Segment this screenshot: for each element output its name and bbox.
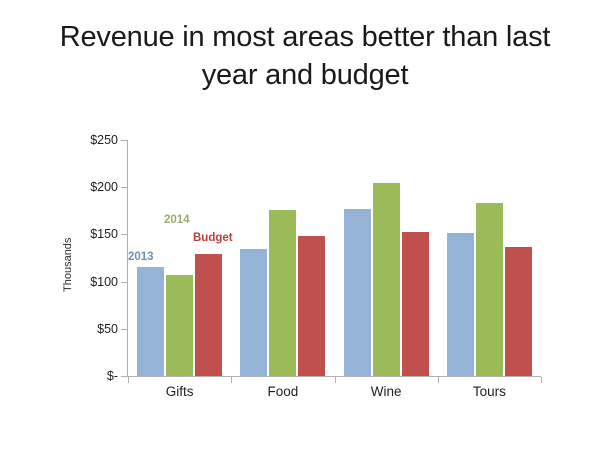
bar-gifts-budget[interactable] (195, 254, 222, 376)
bar-group-wine (335, 140, 438, 376)
bar-food-2014[interactable] (269, 210, 296, 376)
series-annotation-2013: 2013 (128, 251, 154, 263)
y-axis-tick-label: $50 (72, 322, 118, 336)
bar-wine-2014[interactable] (373, 183, 400, 376)
title-line-2: year and budget (18, 56, 592, 94)
bar-food-budget[interactable] (298, 236, 325, 376)
bar-gifts-2013[interactable] (137, 267, 164, 377)
series-annotation-budget: Budget (193, 232, 233, 244)
series-annotation-2014: 2014 (164, 214, 190, 226)
bar-tours-2013[interactable] (447, 233, 474, 376)
y-axis-tick-labels: $-$50$100$150$200$250 (72, 120, 118, 410)
y-axis-tick-mark (121, 329, 127, 330)
y-axis-tick-mark (121, 376, 127, 377)
x-axis-tick-labels: GiftsFoodWineTours (128, 384, 541, 408)
y-axis-tick-mark (121, 140, 127, 141)
y-axis-tick-label: $250 (72, 133, 118, 147)
y-axis-tick-mark (121, 282, 127, 283)
bar-wine-2013[interactable] (344, 209, 371, 376)
bar-chart: Thousands $-$50$100$150$200$250 GiftsFoo… (0, 120, 610, 410)
bar-wine-budget[interactable] (402, 232, 429, 376)
x-axis-tick-mark (438, 377, 439, 383)
x-axis-label-gifts: Gifts (166, 384, 194, 399)
y-axis-tick-label: $200 (72, 180, 118, 194)
bar-food-2013[interactable] (240, 249, 267, 376)
x-axis-tick-mark (231, 377, 232, 383)
x-axis-tick-mark (335, 377, 336, 383)
page-title: Revenue in most areas better than last y… (18, 18, 592, 95)
bar-gifts-2014[interactable] (166, 275, 193, 376)
x-axis-label-food: Food (267, 384, 298, 399)
y-axis-tick-mark (121, 234, 127, 235)
y-axis-tick-label: $100 (72, 275, 118, 289)
bar-tours-budget[interactable] (505, 247, 532, 376)
bar-tours-2014[interactable] (476, 203, 503, 376)
y-axis-tick-label: $- (72, 369, 118, 383)
y-axis-tick-label: $150 (72, 227, 118, 241)
bar-group-tours (438, 140, 541, 376)
x-axis-tick-mark (128, 377, 129, 383)
x-axis-tick-mark (541, 377, 542, 383)
title-line-1: Revenue in most areas better than last (18, 18, 592, 56)
y-axis-tick-mark (121, 187, 127, 188)
x-axis-label-wine: Wine (371, 384, 402, 399)
x-axis-label-tours: Tours (473, 384, 506, 399)
plot-area (128, 140, 541, 376)
bar-group-food (231, 140, 334, 376)
